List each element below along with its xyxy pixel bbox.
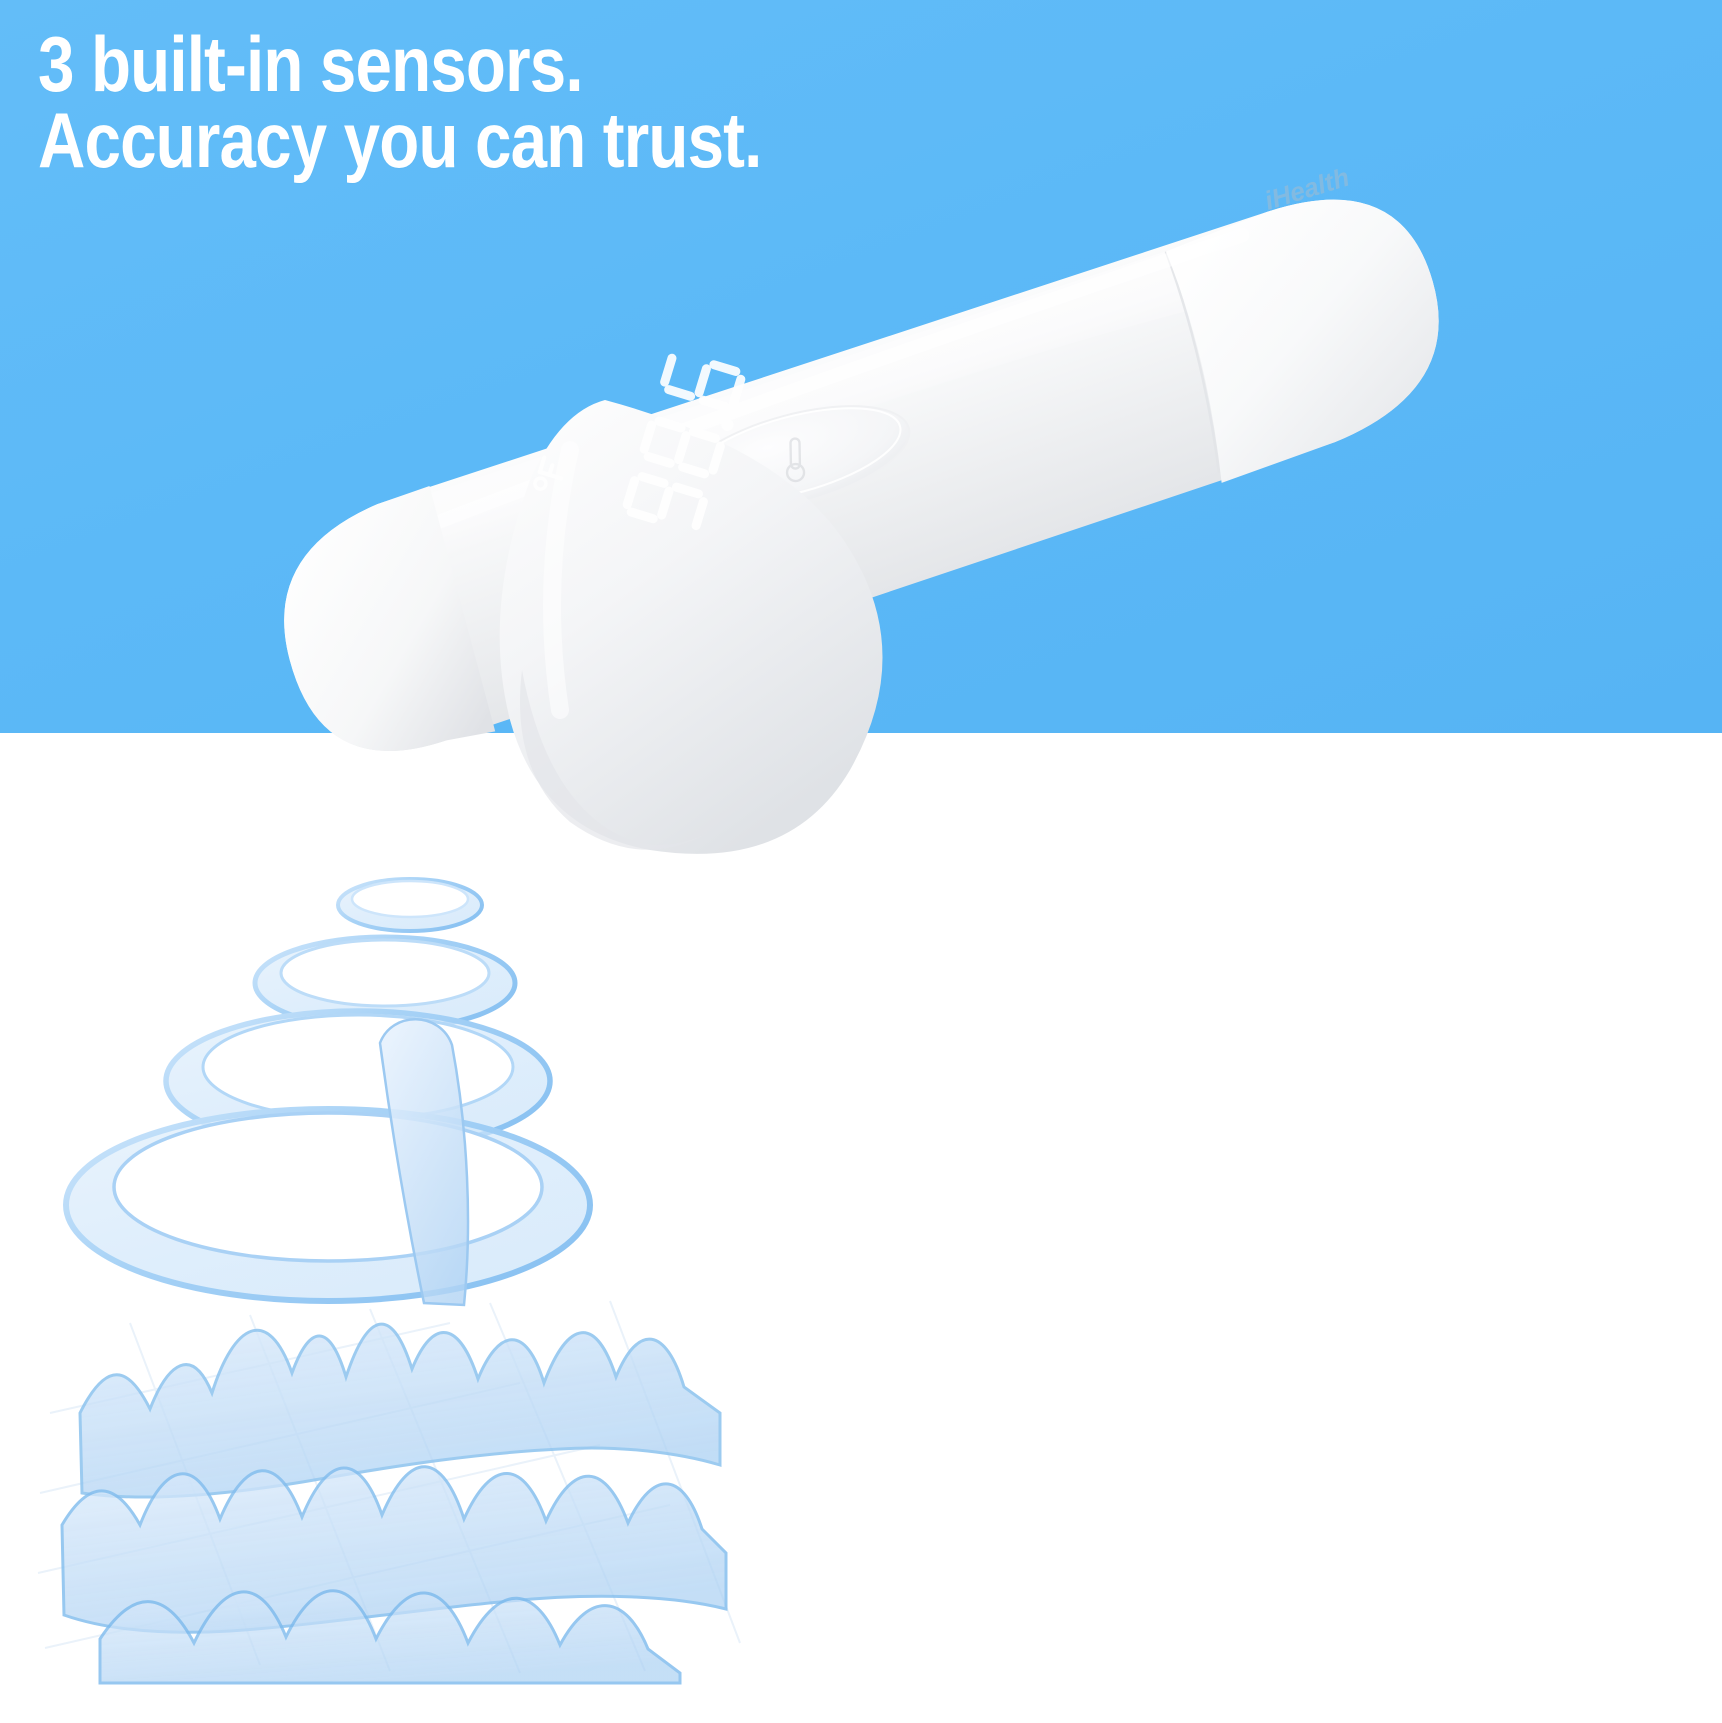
headline-line-1: 3 built-in sensors. (38, 20, 583, 108)
sensor-cone-graphic (20, 853, 760, 1683)
sensor-illustration-section: Distance Sensor Temperature Compensation… (0, 733, 1722, 1723)
product-feature-page: 3 built-in sensors.Accuracy you can trus… (0, 0, 1722, 1723)
waveform-terrain (62, 1324, 726, 1683)
cone-rings (66, 879, 590, 1301)
thermometer-device: iHealth (150, 150, 1550, 870)
